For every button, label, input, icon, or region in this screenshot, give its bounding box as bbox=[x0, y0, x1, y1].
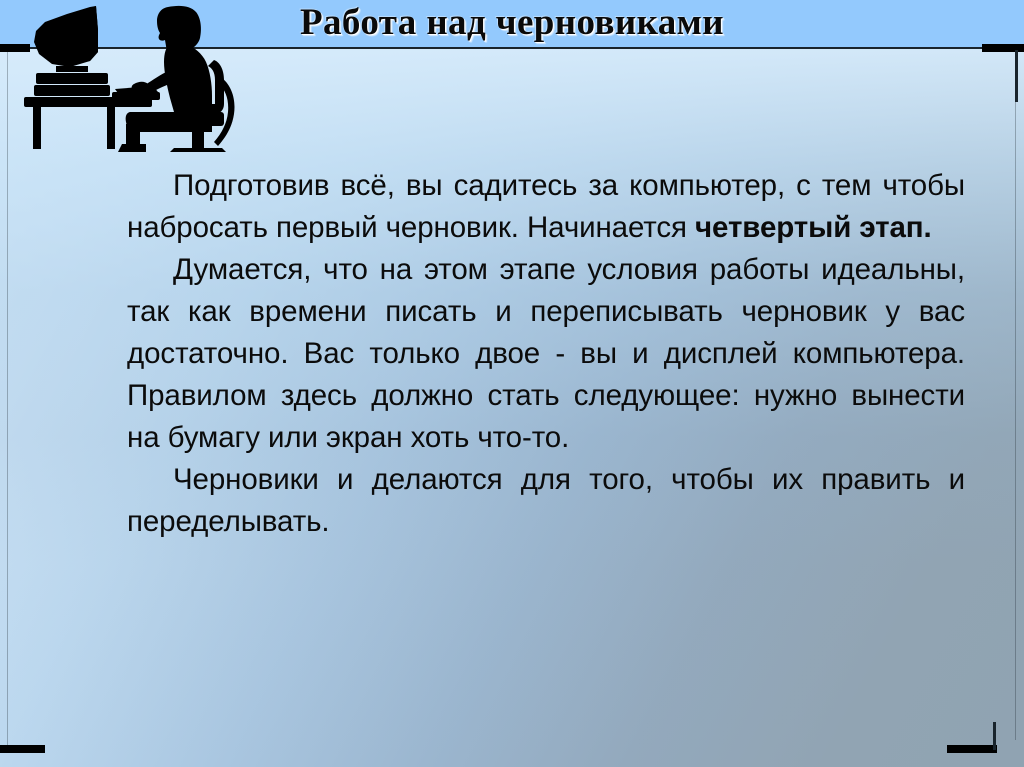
frame-right-vertical-line bbox=[1015, 100, 1016, 740]
body-paragraph-1: Подготовив всё, вы садитесь за компьютер… bbox=[127, 165, 965, 249]
body-paragraph-2: Думается, что на этом этапе условия рабо… bbox=[127, 249, 965, 459]
slide-body: Подготовив всё, вы садитесь за компьютер… bbox=[127, 165, 965, 543]
presentation-slide: Работа над черновиками Подготовив всё, в… bbox=[0, 0, 1024, 767]
frame-bottom-right-corner-accent bbox=[947, 745, 997, 753]
body-run-3-1: Черновики и делаются для того, чтобы их … bbox=[127, 463, 965, 538]
body-run-2-1: Думается, что на этом этапе условия рабо… bbox=[127, 253, 965, 454]
body-run-1-2: четвертый этап. bbox=[695, 211, 932, 244]
frame-bottom-right-vertical-accent bbox=[993, 722, 996, 750]
slide-title: Работа над черновиками bbox=[0, 0, 1024, 47]
body-paragraph-3: Черновики и делаются для того, чтобы их … bbox=[127, 459, 965, 543]
frame-bottom-left-corner-accent bbox=[0, 745, 45, 753]
frame-left-vertical-line bbox=[7, 52, 8, 745]
frame-right-vertical-accent bbox=[1015, 50, 1018, 102]
